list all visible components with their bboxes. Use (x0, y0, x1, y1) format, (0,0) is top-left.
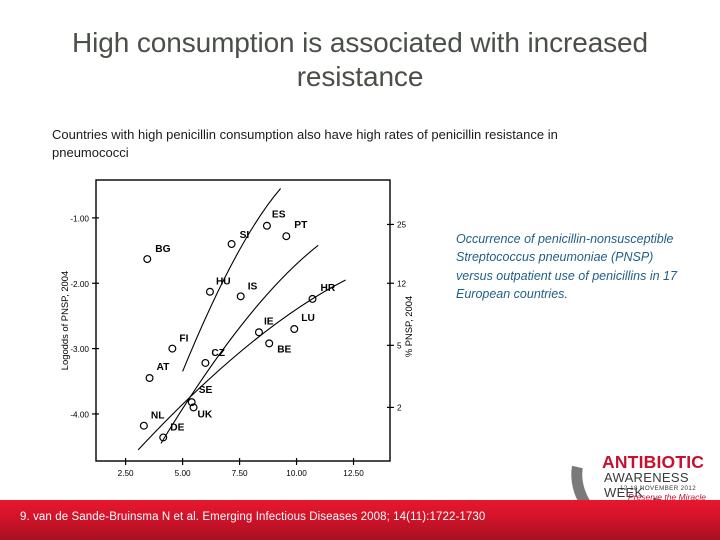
data-point-label: SI (240, 230, 250, 241)
data-point (146, 375, 153, 382)
data-point (291, 326, 298, 333)
page-title: High consumption is associated with incr… (40, 26, 680, 94)
y2-axis-title: % PNSP, 2004 (403, 296, 414, 357)
x-tick-label: 7.50 (232, 469, 248, 477)
data-point (144, 256, 151, 263)
data-point-label: UK (198, 409, 213, 420)
data-point (140, 422, 147, 429)
x-tick-label: 2.50 (118, 469, 134, 477)
y-tick-label: -2.00 (70, 280, 89, 289)
y-tick-label: -3.00 (70, 345, 89, 354)
y2-tick-label: 2 (397, 404, 402, 413)
data-point-label: SE (199, 385, 213, 396)
x-tick-label: 5.00 (175, 469, 191, 477)
data-point (256, 329, 263, 336)
x-tick-label: 12.50 (343, 469, 364, 477)
y2-tick-label: 5 (397, 342, 402, 351)
data-point (283, 233, 290, 240)
data-point-label: PT (294, 220, 308, 231)
logo-line-date: 12-18 NOVEMBER 2012 (620, 485, 696, 492)
y2-tick-label: 12 (397, 279, 407, 288)
data-point (228, 241, 235, 248)
data-point-label: LU (301, 313, 315, 324)
data-point-label: IS (248, 281, 258, 292)
data-point-label: HR (321, 283, 336, 294)
data-point (202, 360, 209, 367)
data-point (207, 288, 214, 295)
slide-subtitle: Countries with high penicillin consumpti… (52, 126, 612, 163)
data-point-label: IE (264, 316, 274, 327)
data-point (264, 222, 271, 229)
data-point-label: AT (157, 362, 171, 373)
data-point (169, 345, 176, 352)
data-point-label: CZ (211, 348, 225, 359)
data-point-label: ES (272, 210, 286, 221)
data-point-label: FI (179, 334, 188, 345)
data-point-label: BG (155, 244, 170, 255)
data-point (237, 293, 244, 300)
figure-caption: Occurrence of penicillin-nonsusceptible … (456, 230, 688, 303)
footer-citation: 9. van de Sande-Bruinsma N et al. Emergi… (20, 511, 485, 523)
y-axis-title: Logodds of PNSP, 2004 (59, 271, 70, 370)
antibiotic-awareness-week-logo: ANTIBIOTIC AWARENESS WEEK 12-18 NOVEMBER… (560, 442, 720, 504)
data-point-label: NL (151, 411, 165, 422)
y-tick-label: -1.00 (70, 214, 89, 223)
data-point-label: DE (170, 422, 184, 433)
y-tick-label: -4.00 (70, 410, 89, 419)
y2-tick-label: 25 (397, 221, 407, 230)
data-point-label: HU (216, 277, 231, 288)
data-point-label: BE (277, 344, 291, 355)
data-point (266, 340, 273, 347)
x-tick-label: 10.00 (286, 469, 307, 477)
chart-canvas: -1.00-2.00-3.00-4.002512522.505.007.5010… (55, 172, 455, 477)
plot-frame (96, 180, 390, 461)
scatter-chart: -1.00-2.00-3.00-4.002512522.505.007.5010… (55, 172, 455, 477)
